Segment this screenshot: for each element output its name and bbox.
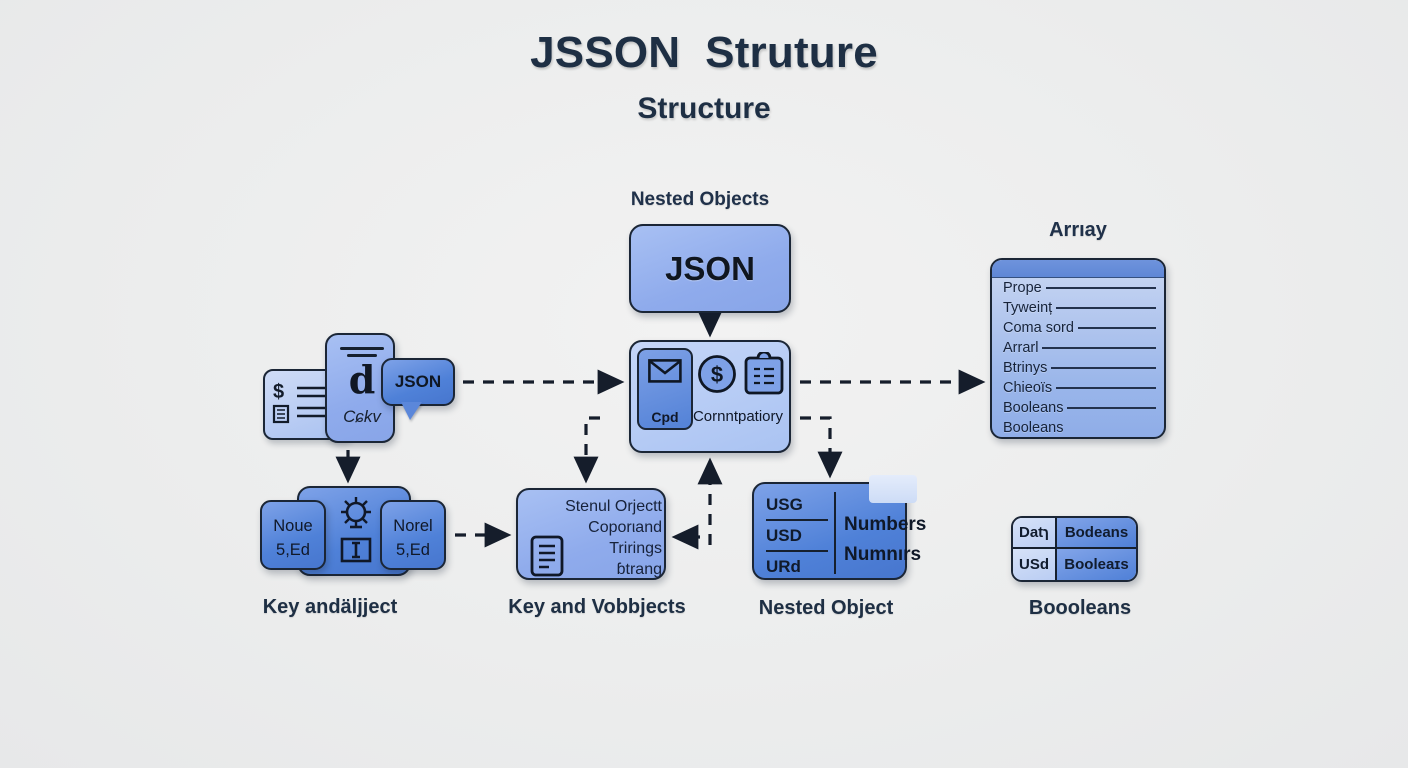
envelope-icon [648, 358, 682, 384]
array-row-label: Chieoïs [1003, 380, 1052, 396]
table-cell-key: USd [1013, 549, 1057, 580]
page-subtitle: Structure [0, 92, 1408, 126]
key-card-right[interactable]: Norel 5,Ed [380, 500, 446, 570]
table-cell-key: Datɿ [1013, 518, 1057, 549]
list-item[interactable]: Prope [1003, 280, 1156, 300]
key-card-right-line2: 5,Ed [382, 541, 444, 560]
array-row-label: Tyweinț [1003, 300, 1052, 316]
svg-text:$: $ [273, 381, 284, 403]
nested-left-row: URd [766, 552, 828, 581]
center-node-caption: Cornntpatiory [685, 408, 791, 425]
page-title: JSSON Struture [0, 28, 1408, 78]
nested-right-row: Numbers [844, 510, 906, 540]
array-row-label: Prope [1003, 280, 1042, 296]
vobbjects-line: Coporιand [540, 517, 662, 538]
center-node[interactable]: Cpd $ Cornntpatiory [629, 340, 791, 453]
key-card-left-line2: 5,Ed [262, 541, 324, 560]
mail-card-label: Cpd [639, 409, 691, 425]
json-bubble-label: JSON [395, 372, 441, 392]
table-cell-value: Bodeans [1057, 518, 1136, 549]
svg-text:$: $ [711, 362, 723, 387]
label-array: Arrıay [990, 219, 1166, 242]
card-bar-top [340, 347, 384, 350]
caption-key-and-object: Key andäljject [230, 596, 430, 619]
folder-tab-icon [869, 475, 917, 503]
array-row-list: Prope Tyweinț Coma sord Arrarl Btrinys C… [992, 278, 1164, 439]
json-node-label: JSON [665, 250, 755, 288]
vobbjects-line: Stenul Orjectt [540, 496, 662, 517]
key-vobbjects-lines: Stenul Orjectt Coporιand Trirings ɓtrang [540, 496, 662, 580]
array-row-label: Btrinys [1003, 360, 1047, 376]
vobbjects-line: Trirings [540, 538, 662, 559]
list-item[interactable]: Chieoïs [1003, 380, 1156, 400]
title-main: JSSON [530, 28, 680, 77]
nested-object-right-column: Numbers Numnırs [844, 510, 906, 570]
row-rule [1051, 367, 1156, 369]
row-rule [1042, 347, 1156, 349]
key-card-left-line1: Noue [262, 517, 324, 536]
caption-booleans: Boooleans [980, 597, 1180, 620]
list-item[interactable]: Booleans [1003, 420, 1156, 439]
list-item[interactable]: Arrarl [1003, 340, 1156, 360]
list-item[interactable]: Btrinys [1003, 360, 1156, 380]
booleans-table[interactable]: Datɿ Bodeans USd Booleaɪs [1011, 516, 1138, 582]
wire-center-to-vobbjects [586, 418, 600, 479]
key-vobbjects-node[interactable]: Stenul Orjectt Coporιand Trirings ɓtrang [516, 488, 666, 580]
nested-left-row: USD [766, 521, 828, 552]
lightbulb-icon [332, 495, 380, 533]
array-panel-header [992, 260, 1164, 278]
nested-right-row: Numnırs [844, 540, 906, 570]
table-cell-value: Booleaɪs [1057, 549, 1136, 580]
chip-icon [338, 534, 374, 566]
row-rule [1056, 387, 1156, 389]
bubble-tail-icon [401, 402, 422, 420]
list-item[interactable]: Booleans [1003, 400, 1156, 420]
row-rule [1078, 327, 1156, 329]
array-row-label: Booleans [1003, 400, 1063, 416]
key-card-left[interactable]: Noue 5,Ed [260, 500, 326, 570]
row-rule [1046, 287, 1156, 289]
column-divider [834, 492, 836, 574]
json-speech-bubble[interactable]: JSON [381, 358, 455, 406]
array-panel[interactable]: Prope Tyweinț Coma sord Arrarl Btrinys C… [990, 258, 1166, 439]
diagram-canvas: JSSON Struture Structure [0, 0, 1408, 768]
wire-center-to-nested [800, 418, 830, 474]
list-item[interactable]: Coma sord [1003, 320, 1156, 340]
array-row-label: Coma sord [1003, 320, 1074, 336]
json-node[interactable]: JSON [629, 224, 791, 313]
nested-object-left-column: USG USD URd [766, 490, 828, 581]
label-nested-objects: Nested Objects [600, 189, 800, 211]
dollar-coin-icon: $ [697, 354, 737, 394]
title-rest: Struture [705, 28, 878, 77]
caption-nested-object: Nested Object [726, 597, 926, 620]
row-rule [1056, 307, 1156, 309]
nested-left-row: USG [766, 490, 828, 521]
key-card-right-line1: Norel [382, 517, 444, 536]
array-row-label: Booleans [1003, 420, 1063, 436]
card-sub-label: Cɕkv [327, 407, 397, 427]
clipboard-icon [743, 352, 785, 396]
array-row-label: Arrarl [1003, 340, 1038, 356]
nested-object-node[interactable]: USG USD URd Numbers Numnırs [752, 482, 907, 580]
caption-key-and-vobbjects: Key and Vobbjects [497, 596, 697, 619]
list-item[interactable]: Tyweinț [1003, 300, 1156, 320]
row-rule [1067, 407, 1156, 409]
vobbjects-line: ɓtrang [540, 559, 662, 580]
